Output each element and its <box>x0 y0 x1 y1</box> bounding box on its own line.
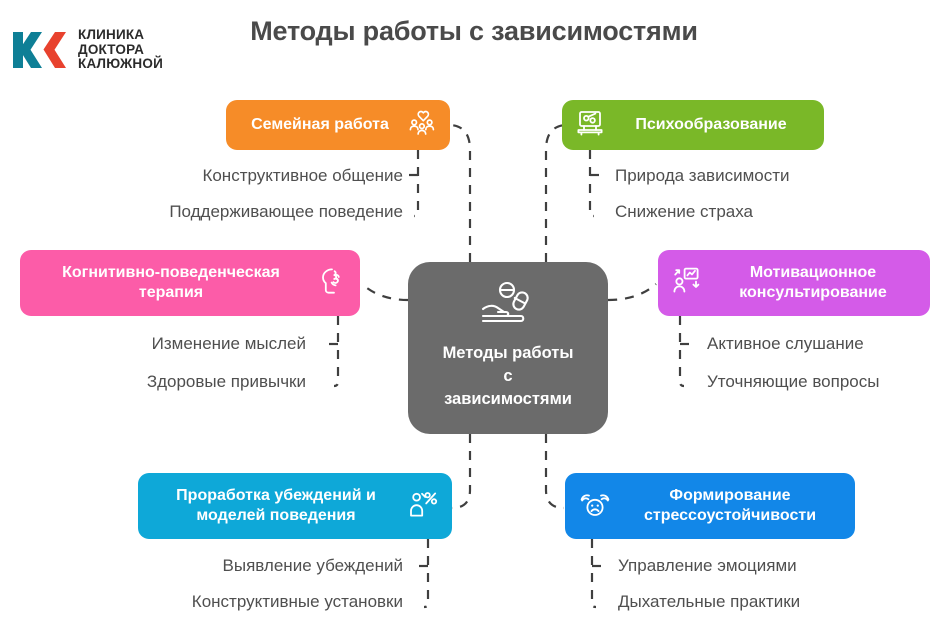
branch-node-stress[interactable]: Формирование стрессоустойчивости <box>565 473 855 539</box>
link-cbt-spine <box>334 316 338 386</box>
branch-label-psycho: Психообразование <box>612 115 810 135</box>
center-node-label: Методы работы с зависимостями <box>443 342 574 410</box>
branch-label-beliefs: Проработка убеждений и моделей поведения <box>152 486 400 525</box>
leaf-cbt-1: Здоровые привычки <box>120 372 306 392</box>
link-center-cbt <box>362 284 408 300</box>
branch-node-family[interactable]: Семейная работа <box>226 100 450 150</box>
branch-label-family: Семейная работа <box>240 115 400 135</box>
person-percent-icon <box>408 489 438 524</box>
presentation-board-icon <box>576 109 604 142</box>
head-brain-hand-icon <box>316 266 346 301</box>
link-center-family <box>450 125 470 262</box>
leaf-psycho-1: Снижение страха <box>615 202 753 222</box>
infographic-canvas: КЛИНИКА ДОКТОРА КАЛЮЖНОЙ Методы работы с… <box>0 0 948 634</box>
brand-line-3: КАЛЮЖНОЙ <box>78 57 163 71</box>
branch-node-motivational[interactable]: Мотивационное консультирование <box>658 250 930 316</box>
link-center-psycho <box>546 125 566 262</box>
link-beliefs-spine <box>424 539 428 607</box>
leaf-family-1: Поддерживающее поведение <box>110 202 403 222</box>
branch-label-cbt: Когнитивно-поведенческая терапия <box>34 263 308 302</box>
leaf-stress-0: Управление эмоциями <box>618 556 797 576</box>
branch-label-stress: Формирование стрессоустойчивости <box>619 486 841 525</box>
leaf-motivational-1: Уточняющие вопросы <box>707 372 879 392</box>
link-center-stress <box>546 434 564 508</box>
hand-with-pills-icon <box>477 281 539 332</box>
family-heart-icon <box>408 109 436 142</box>
link-stress-spine <box>592 539 596 607</box>
branch-node-beliefs[interactable]: Проработка убеждений и моделей поведения <box>138 473 452 539</box>
page-title: Методы работы с зависимостями <box>0 16 948 47</box>
link-center-motivational <box>608 284 656 300</box>
link-center-beliefs <box>452 434 470 508</box>
leaf-beliefs-1: Конструктивные установки <box>134 592 403 612</box>
leaf-family-0: Конструктивное общение <box>150 166 403 186</box>
leaf-motivational-0: Активное слушание <box>707 334 864 354</box>
leaf-beliefs-0: Выявление убеждений <box>178 556 403 576</box>
leaf-stress-1: Дыхательные практики <box>618 592 800 612</box>
stressed-face-icon <box>579 489 611 524</box>
center-node[interactable]: Методы работы с зависимостями <box>408 262 608 434</box>
branch-label-motivational: Мотивационное консультирование <box>710 263 916 302</box>
person-growth-chart-icon <box>672 266 702 301</box>
branch-node-psycho[interactable]: Психообразование <box>562 100 824 150</box>
link-motivational-spine <box>680 316 684 386</box>
leaf-psycho-0: Природа зависимости <box>615 166 790 186</box>
link-family-spine <box>414 150 418 216</box>
branch-node-cbt[interactable]: Когнитивно-поведенческая терапия <box>20 250 360 316</box>
leaf-cbt-0: Изменение мыслей <box>120 334 306 354</box>
link-psycho-spine <box>590 150 594 216</box>
